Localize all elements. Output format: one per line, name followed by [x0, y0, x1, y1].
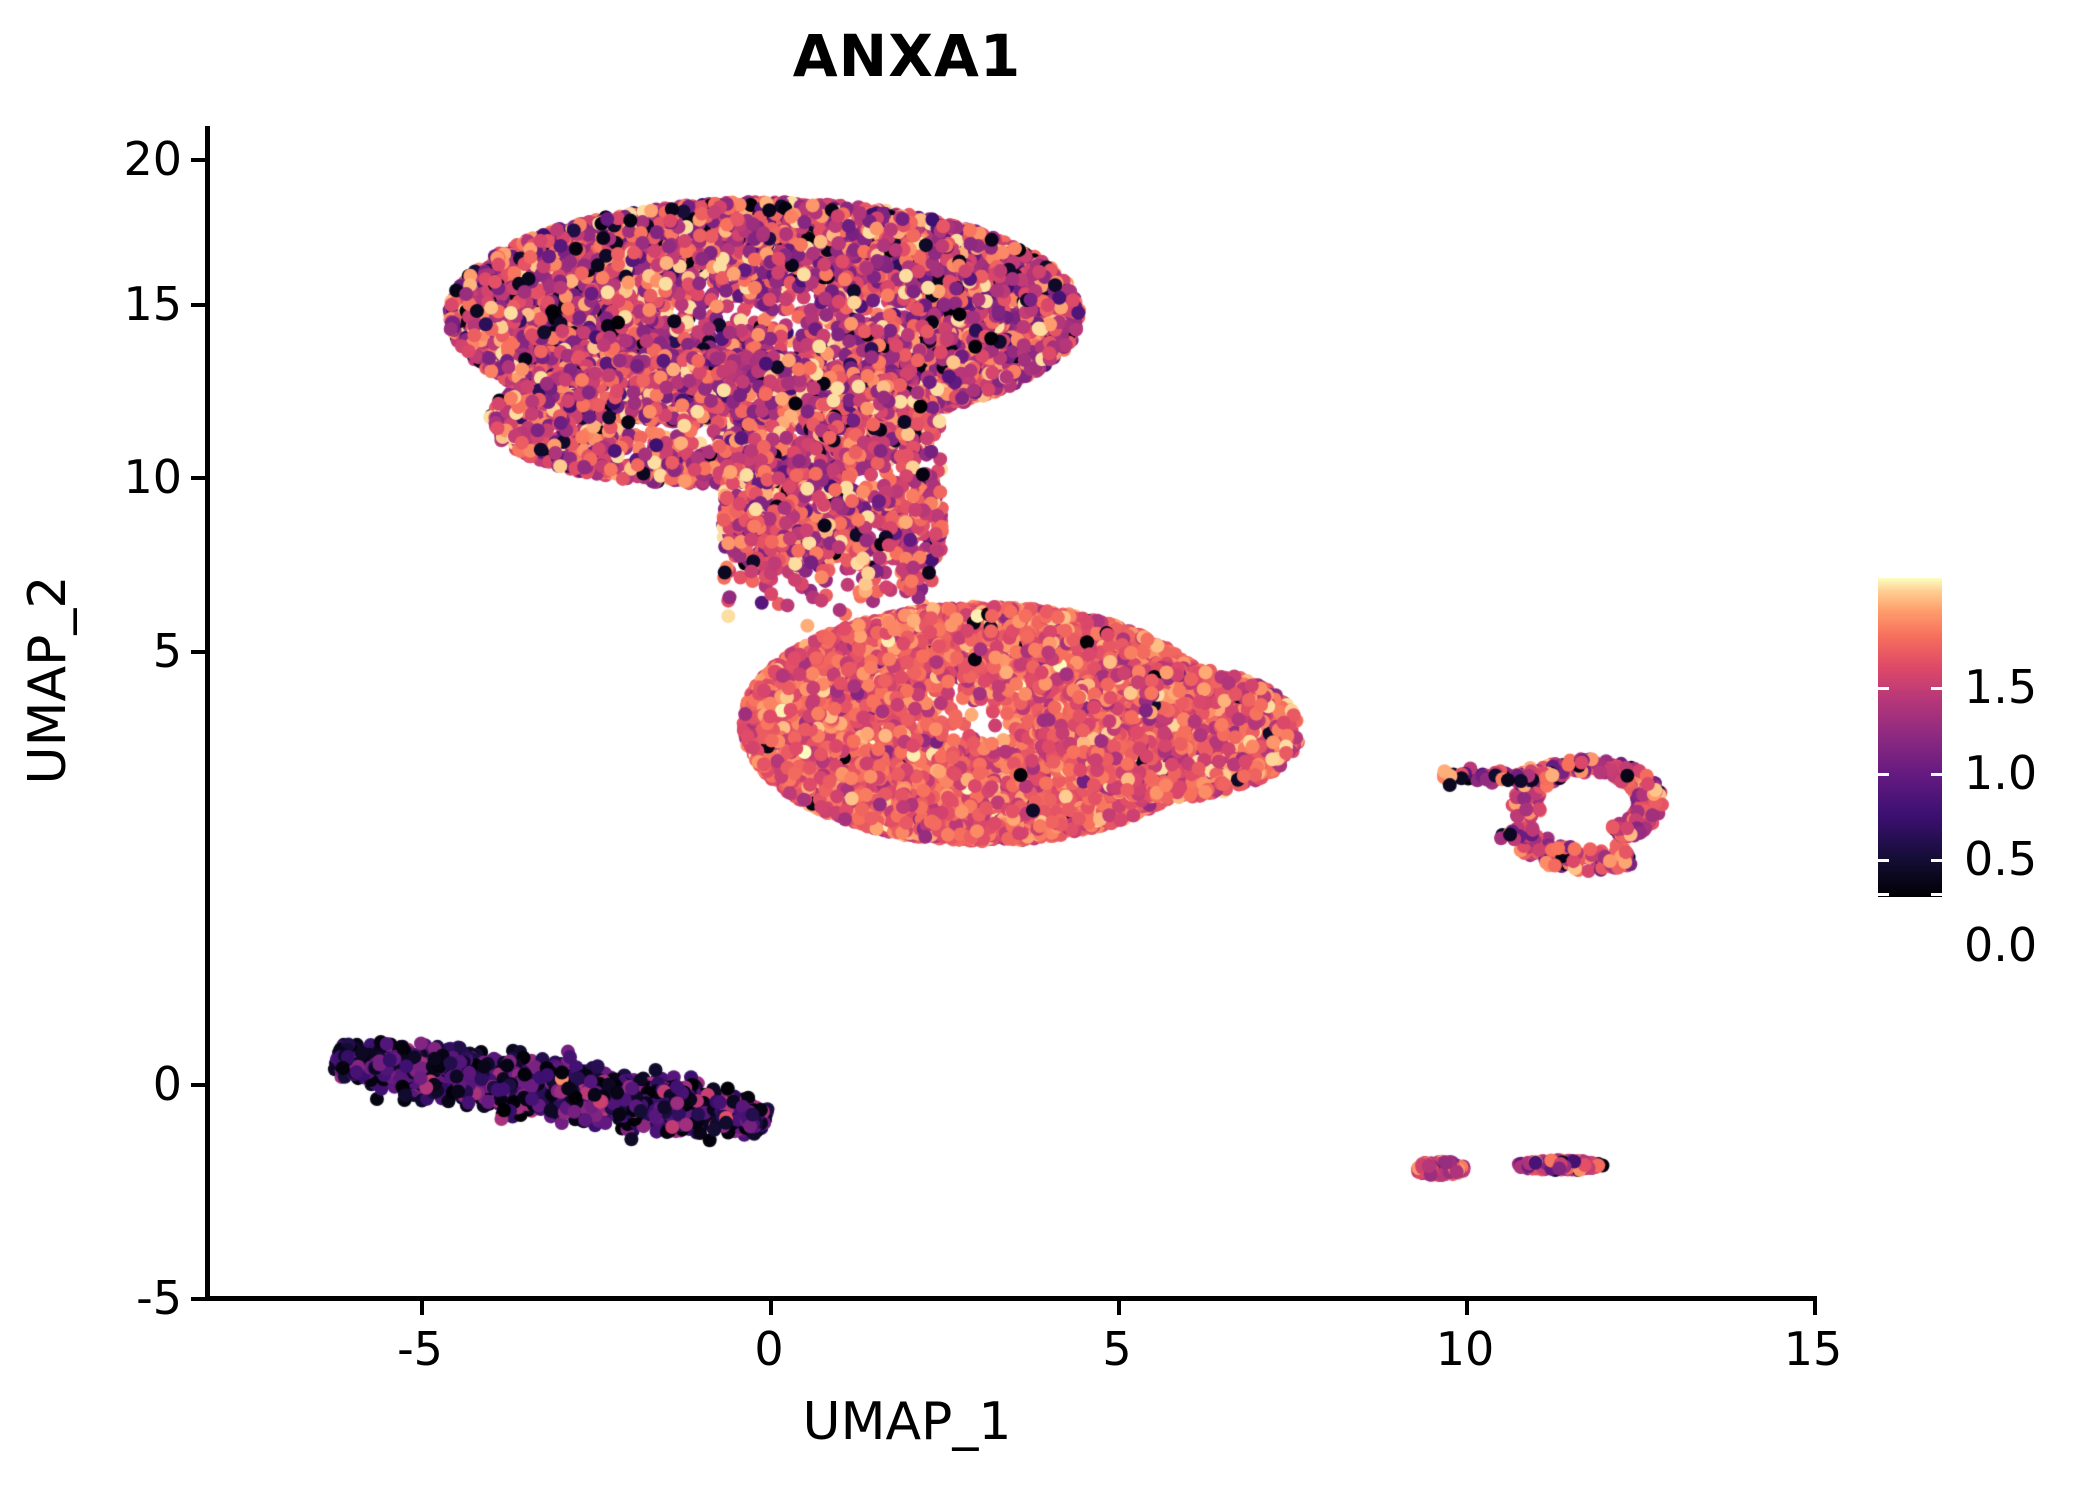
x-axis-label: UMAP_1 [0, 1392, 1814, 1452]
colorbar-tick-0_0-right [1931, 893, 1942, 896]
x-tick-mark-15 [1813, 1301, 1817, 1315]
x-tick-mark-10 [1465, 1301, 1469, 1315]
y-tick-mark-10 [191, 476, 205, 480]
y-tick-label-5: 5 [153, 624, 182, 678]
colorbar-tick-0_5-right [1931, 859, 1942, 862]
figure-root: ANXA1 20 15 10 5 0 -5 -5 0 5 10 15 UMAP_… [0, 0, 2100, 1500]
colorbar-tick-1_0-left [1878, 773, 1889, 776]
y-tick-label-minus5: -5 [136, 1271, 182, 1325]
x-axis-spine [205, 1296, 1817, 1301]
x-tick-label-10: 10 [1415, 1322, 1515, 1376]
x-tick-mark-5 [1117, 1301, 1121, 1315]
x-tick-label-minus5: -5 [370, 1322, 470, 1376]
x-tick-label-15: 15 [1763, 1322, 1863, 1376]
colorbar-tick-1_0-right [1931, 773, 1942, 776]
colorbar-tick-0_0-left [1878, 893, 1889, 896]
colorbar-label-0_5: 0.5 [1964, 832, 2037, 886]
y-axis-spine [205, 126, 210, 1301]
colorbar-tick-1_5-left [1878, 687, 1889, 690]
page-title: ANXA1 [0, 22, 1814, 90]
y-tick-mark-5 [191, 650, 205, 654]
y-tick-mark-15 [191, 303, 205, 307]
x-tick-label-0: 0 [719, 1322, 819, 1376]
y-tick-label-0: 0 [153, 1057, 182, 1111]
colorbar-gradient [1878, 578, 1942, 897]
y-axis-label: UMAP_2 [18, 370, 78, 990]
scatter-plot-canvas [208, 128, 1814, 1298]
x-tick-label-5: 5 [1067, 1322, 1167, 1376]
y-tick-label-20: 20 [123, 132, 182, 186]
x-tick-mark-minus5 [420, 1301, 424, 1315]
y-tick-mark-minus5 [191, 1297, 205, 1301]
y-tick-mark-0 [191, 1083, 205, 1087]
colorbar-label-1_5: 1.5 [1964, 660, 2037, 714]
y-tick-mark-20 [191, 158, 205, 162]
y-tick-label-10: 10 [123, 450, 182, 504]
colorbar-label-1_0: 1.0 [1964, 746, 2037, 800]
colorbar: 1.5 1.0 0.5 0.0 [1878, 578, 2088, 898]
colorbar-tick-1_5-right [1931, 687, 1942, 690]
x-tick-mark-0 [769, 1301, 773, 1315]
colorbar-tick-0_5-left [1878, 859, 1889, 862]
colorbar-label-0_0: 0.0 [1964, 918, 2037, 972]
plot-axes [208, 128, 1814, 1298]
y-tick-label-15: 15 [123, 277, 182, 331]
